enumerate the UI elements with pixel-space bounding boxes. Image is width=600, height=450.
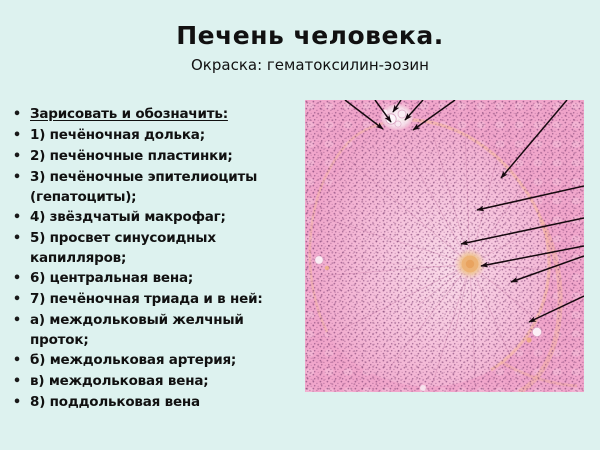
list-item-label: в) междольковая вена;: [30, 371, 300, 392]
list-item: •4) звёздчатый макрофаг;: [4, 207, 300, 228]
list-item: •в) междольковая вена;: [4, 371, 300, 392]
list-item-label: 8) поддольковая вена: [30, 392, 300, 413]
bullet-marker-icon: •: [4, 104, 30, 125]
list-item-label: 2) печёночные пластинки;: [30, 146, 300, 167]
list-item: •2) печёночные пластинки;: [4, 146, 300, 167]
list-item: •а) междольковый желчный: [4, 310, 300, 331]
list-item-continuation: проток;: [4, 331, 300, 350]
list-item: •Зарисовать и обозначить:: [4, 104, 300, 125]
list-item-label: 7) печёночная триада и в ней:: [30, 289, 300, 310]
task-bullet-list: •Зарисовать и обозначить:•1) печёночная …: [4, 104, 300, 413]
liver-histology-micrograph: [305, 100, 584, 392]
list-item: •1) печёночная долька;: [4, 125, 300, 146]
bullet-marker-icon: •: [4, 228, 30, 249]
list-item: •7) печёночная триада и в ней:: [4, 289, 300, 310]
slide-root: Печень человека. Окраска: гематоксилин-э…: [0, 0, 600, 450]
bullet-marker-icon: •: [4, 371, 30, 392]
list-item: •б) междольковая артерия;: [4, 350, 300, 371]
page-subtitle: Окраска: гематоксилин-эозин: [150, 56, 470, 74]
title-block: Печень человека. Окраска: гематоксилин-э…: [150, 22, 470, 74]
micrograph-canvas: [305, 100, 584, 392]
sublobular-vein: [315, 256, 323, 264]
bullet-marker-icon: •: [4, 350, 30, 371]
bullet-marker-icon: •: [4, 310, 30, 331]
bullet-marker-icon: •: [4, 268, 30, 289]
bullet-marker-icon: •: [4, 392, 30, 413]
list-item-label: б) междольковая артерия;: [30, 350, 300, 371]
list-item-label: 4) звёздчатый макрофаг;: [30, 207, 300, 228]
list-item-label: 1) печёночная долька;: [30, 125, 300, 146]
list-item: •8) поддольковая вена: [4, 392, 300, 413]
bullet-marker-icon: •: [4, 146, 30, 167]
list-item-label: Зарисовать и обозначить:: [30, 104, 300, 125]
bullet-marker-icon: •: [4, 125, 30, 146]
bullet-marker-icon: •: [4, 167, 30, 188]
list-item: •6) центральная вена;: [4, 268, 300, 289]
page-title: Печень человека.: [150, 22, 470, 50]
bullet-marker-icon: •: [4, 207, 30, 228]
list-item: •5) просвет синусоидных: [4, 228, 300, 249]
list-item-label: 3) печёночные эпителиоциты: [30, 167, 300, 188]
list-item: •3) печёночные эпителиоциты: [4, 167, 300, 188]
central-vein: [454, 248, 486, 280]
list-item-continuation: (гепатоциты);: [4, 188, 300, 207]
list-item-continuation: капилляров;: [4, 249, 300, 268]
list-item-label: а) междольковый желчный: [30, 310, 300, 331]
bullet-marker-icon: •: [4, 289, 30, 310]
list-item-label: 5) просвет синусоидных: [30, 228, 300, 249]
list-item-label: 6) центральная вена;: [30, 268, 300, 289]
